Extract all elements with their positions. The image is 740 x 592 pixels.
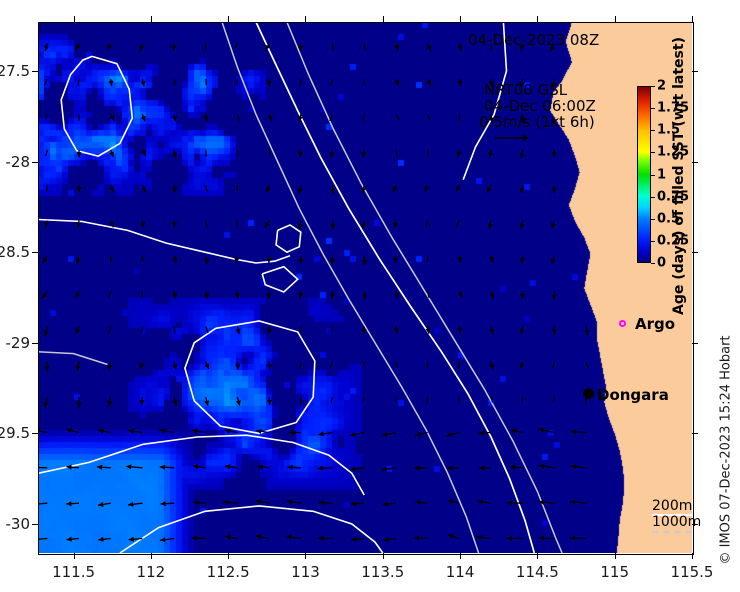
current-vector (141, 397, 142, 405)
x-tick (692, 553, 693, 559)
current-vector (459, 79, 461, 86)
current-vector (571, 466, 586, 468)
velocity-scale-label: 0.5m/s (1kt 6h) (479, 113, 595, 131)
current-vector (66, 429, 79, 432)
current-vector (46, 114, 48, 119)
current-vector (396, 327, 397, 334)
current-vector (330, 362, 332, 368)
current-vector (206, 220, 207, 227)
current-vector (46, 150, 48, 156)
x-tick-label: 112 (137, 563, 166, 581)
current-vector (571, 432, 586, 433)
current-vector (478, 433, 491, 434)
current-vector (510, 467, 523, 468)
current-vector (236, 256, 238, 263)
x-tick (460, 553, 461, 559)
current-vector (142, 150, 145, 156)
current-vector (364, 362, 365, 367)
current-vector (522, 291, 523, 299)
copyright-label: © IMOS 07-Dec-2023 15:24 Hobart (719, 335, 734, 564)
current-vector (331, 79, 332, 85)
current-vector (521, 150, 522, 159)
current-vector (552, 220, 554, 228)
current-vector (174, 150, 176, 158)
current-vector (129, 431, 143, 433)
current-vector (225, 466, 238, 468)
x-tick (460, 16, 461, 22)
current-vector (414, 538, 428, 539)
current-vector (174, 397, 176, 406)
current-vector (237, 327, 239, 335)
current-vector (286, 536, 301, 538)
colorbar-tick-label: 0 (657, 256, 666, 271)
current-vector (522, 256, 523, 264)
x-tick-label: 113.5 (361, 563, 404, 581)
current-vector (538, 429, 554, 432)
current-vector (193, 466, 206, 468)
current-vector (174, 291, 176, 299)
y-tick (692, 162, 698, 163)
current-vector (38, 539, 47, 540)
current-vector (174, 185, 175, 192)
current-vector (458, 150, 459, 157)
current-vector (174, 114, 175, 121)
current-vector (107, 44, 110, 50)
current-vector (111, 220, 114, 227)
y-axis-tick-labels: -27.5-28-28.5-29-29.5-30 (0, 0, 30, 592)
current-vector (490, 150, 491, 158)
current-vector (77, 362, 79, 371)
current-vector (142, 220, 143, 228)
colorbar-tick (651, 241, 655, 242)
current-vector (66, 503, 79, 504)
current-vector (111, 114, 115, 120)
current-vector (459, 362, 460, 369)
current-vector (206, 362, 209, 369)
current-vector (426, 220, 428, 227)
current-vector (539, 538, 555, 539)
current-vector (299, 185, 301, 194)
current-vector (111, 79, 112, 86)
x-tick-label: 112.5 (207, 563, 250, 581)
y-tick-label: -30 (6, 515, 31, 533)
x-tick-label: 114 (446, 563, 475, 581)
y-tick-label: -29 (6, 334, 31, 352)
current-vector (98, 430, 110, 432)
dongara-town-label: Dongara (597, 386, 669, 404)
y-tick (692, 71, 698, 72)
current-vector (160, 539, 174, 541)
current-vector (395, 256, 396, 263)
current-vector (570, 502, 586, 504)
x-tick-label: 113 (291, 563, 320, 581)
y-tick-label: -28.5 (0, 243, 30, 261)
current-vector (384, 539, 396, 541)
current-vector (363, 220, 364, 228)
current-vector (363, 397, 364, 402)
x-tick (228, 553, 229, 559)
current-vector (382, 433, 396, 436)
current-vector (459, 44, 461, 51)
current-vector (477, 537, 492, 539)
current-vector (381, 468, 396, 470)
current-vector (237, 114, 239, 120)
x-tick (228, 16, 229, 22)
current-vector (269, 114, 272, 121)
current-vector (223, 502, 237, 503)
current-vector (395, 220, 396, 228)
current-vector (76, 327, 79, 334)
y-tick (32, 162, 38, 163)
y-tick (692, 343, 698, 344)
current-vector (206, 185, 207, 192)
depth-1000m-line-sample (652, 531, 692, 533)
current-vector (269, 362, 270, 370)
y-tick (32, 343, 38, 344)
current-vector (428, 114, 430, 120)
current-vector (128, 503, 142, 505)
current-vector (459, 291, 462, 298)
current-vector (43, 256, 48, 263)
current-vector (383, 503, 396, 504)
current-vector (47, 185, 48, 191)
y-tick (32, 433, 38, 434)
current-vector (111, 150, 114, 157)
current-vector (267, 185, 269, 192)
current-vector (206, 397, 208, 406)
current-vector (67, 539, 79, 540)
colorbar-tick-label: 2 (657, 79, 666, 94)
current-vector (38, 430, 47, 432)
current-vector (287, 501, 301, 503)
current-vector (235, 44, 237, 50)
current-vector (511, 430, 523, 433)
current-vector (192, 430, 206, 433)
current-vector (45, 397, 48, 408)
current-vector (333, 44, 334, 51)
current-vector (448, 535, 460, 539)
x-tick-label: 115.5 (671, 563, 714, 581)
x-tick (151, 553, 152, 559)
current-vector (206, 291, 208, 299)
y-tick-label: -27.5 (0, 62, 30, 80)
y-tick (692, 433, 698, 434)
current-vector (174, 362, 176, 370)
y-tick-label: -29.5 (0, 424, 30, 442)
current-vector (539, 466, 554, 468)
current-vector (428, 44, 431, 51)
current-vector (396, 291, 397, 298)
depth-1000m-label: 1000m (652, 514, 701, 530)
current-vector (108, 362, 111, 370)
y-tick-label: -28 (6, 153, 31, 171)
x-tick (692, 16, 693, 22)
current-vector (174, 44, 175, 51)
current-vector (487, 185, 491, 192)
current-vector (160, 467, 174, 468)
current-vector (159, 430, 174, 433)
current-vector (364, 291, 365, 299)
current-vector (491, 362, 493, 370)
isobath-contour (262, 267, 298, 292)
y-tick (32, 524, 38, 525)
current-vector (42, 291, 47, 299)
current-vector (522, 397, 523, 402)
current-vector (237, 150, 238, 157)
current-vector (300, 150, 301, 157)
current-vector (553, 397, 554, 402)
current-vector (319, 502, 333, 503)
timestamp-label: 04-Dec-2023 08Z (468, 31, 599, 49)
current-vector (237, 362, 238, 370)
x-tick (74, 16, 75, 22)
current-vector (142, 114, 145, 121)
argo-legend-label: Argo (635, 315, 675, 333)
colorbar-tick (651, 263, 655, 264)
isobath-contour (38, 435, 364, 495)
current-vector (236, 220, 237, 227)
current-vector (333, 220, 334, 229)
current-vector (332, 256, 333, 265)
x-tick (383, 16, 384, 22)
x-tick (537, 553, 538, 559)
current-vector (396, 362, 397, 368)
current-vector (174, 79, 175, 85)
current-vector (300, 362, 301, 369)
x-tick (537, 16, 538, 22)
current-vector (456, 185, 459, 191)
current-vector (351, 503, 365, 504)
current-vector (520, 362, 522, 369)
colorbar (637, 86, 651, 263)
current-vector (109, 397, 111, 406)
colorbar-tick-label: 1 (657, 167, 666, 182)
current-vector (206, 327, 208, 334)
current-vector (491, 327, 493, 335)
current-vector (142, 185, 145, 192)
x-tick (74, 553, 75, 559)
current-vector (269, 150, 270, 157)
current-vector (300, 44, 301, 51)
current-vector (427, 362, 428, 369)
colorbar-tick (651, 175, 655, 176)
current-vector (428, 79, 431, 86)
current-vector (45, 44, 47, 51)
y-tick (32, 71, 38, 72)
current-vector (265, 220, 269, 227)
y-tick (32, 252, 38, 253)
current-vector (489, 220, 491, 228)
current-vector (521, 220, 523, 228)
x-tick (305, 16, 306, 22)
current-vector (448, 501, 459, 504)
argo-marker-icon (619, 320, 626, 327)
current-vector (317, 468, 332, 469)
current-vector (256, 536, 269, 539)
isobath-contour (120, 506, 383, 553)
current-vector (425, 185, 427, 192)
current-vector (363, 114, 364, 120)
current-vector (331, 397, 332, 402)
current-vector (97, 467, 111, 468)
current-vector (364, 44, 365, 51)
isobath-contour (61, 56, 132, 156)
current-vector (45, 79, 48, 85)
current-vector (206, 114, 207, 121)
current-vector (459, 256, 460, 263)
current-vector (459, 327, 460, 334)
colorbar-tick (651, 152, 655, 153)
x-tick (305, 553, 306, 559)
current-vector (396, 114, 399, 120)
current-vector (415, 502, 427, 503)
current-vector (491, 291, 494, 299)
current-vector (98, 503, 111, 505)
current-vector (142, 291, 143, 297)
x-tick-label: 111.5 (52, 563, 95, 581)
current-vector (331, 327, 332, 333)
current-vector (258, 466, 269, 467)
current-vector (38, 467, 47, 468)
current-vector (539, 502, 555, 503)
current-vector (586, 362, 588, 369)
x-tick-label: 114.5 (516, 563, 559, 581)
current-vector (38, 503, 47, 504)
current-vector (415, 433, 428, 436)
current-vector (193, 502, 206, 503)
colorbar-tick (651, 197, 655, 198)
depth-200m-label: 200m (652, 498, 692, 514)
current-vector (446, 433, 459, 436)
current-vector (78, 220, 79, 228)
current-vector (299, 220, 301, 229)
current-vector (394, 185, 396, 192)
current-vector (554, 291, 555, 300)
current-vector (161, 503, 175, 504)
current-vector (45, 327, 47, 337)
current-vector (76, 256, 79, 264)
current-vector (78, 79, 79, 85)
current-vector (552, 256, 555, 264)
current-vector (126, 466, 142, 467)
isobath-contour (38, 220, 290, 264)
isobath-contour (185, 321, 315, 433)
current-vector (350, 433, 365, 436)
current-vector (396, 150, 397, 157)
colorbar-tick (651, 130, 655, 131)
current-vector (300, 79, 301, 86)
current-vector (318, 538, 332, 539)
current-vector (350, 468, 364, 470)
current-vector (191, 538, 205, 539)
current-vector (521, 327, 523, 335)
current-vector (140, 44, 142, 51)
current-vector (109, 327, 111, 333)
y-tick (692, 252, 698, 253)
x-tick (383, 553, 384, 559)
colorbar-tick (651, 108, 655, 109)
current-vector (363, 150, 364, 158)
current-vector (225, 536, 237, 538)
colorbar-title: Age (days) of filled SST (wrt latest) (671, 37, 687, 315)
reference-arrow-icon (495, 133, 529, 143)
current-vector (256, 501, 270, 503)
current-vector (300, 291, 301, 298)
current-vector (351, 539, 364, 540)
current-vector (237, 397, 239, 406)
colorbar-gradient (637, 86, 651, 263)
x-tick (151, 16, 152, 22)
current-vector (521, 185, 522, 193)
current-vector (141, 327, 143, 334)
current-vector (318, 433, 332, 435)
isobath-contour (38, 352, 108, 365)
isobath-contour (222, 22, 479, 553)
current-vector (456, 220, 459, 226)
current-vector (109, 291, 111, 297)
current-vector (76, 44, 79, 50)
colorbar-tick (651, 86, 655, 87)
current-vector (206, 256, 208, 264)
current-vector (76, 291, 79, 298)
current-vector (288, 467, 301, 468)
current-vector (553, 362, 555, 368)
current-vector (269, 397, 270, 405)
current-vector (225, 430, 238, 432)
current-vector (396, 79, 399, 86)
current-vector (111, 185, 114, 192)
colorbar-tick (651, 219, 655, 220)
current-vector (330, 114, 333, 120)
current-vector (586, 327, 587, 336)
x-tick-label: 115 (600, 563, 629, 581)
current-vector (364, 256, 365, 265)
current-vector (45, 220, 47, 227)
x-tick (615, 553, 616, 559)
current-vector (301, 327, 302, 333)
current-vector (491, 256, 493, 263)
current-vector (477, 501, 491, 503)
current-vector (174, 256, 176, 264)
x-tick (615, 16, 616, 22)
current-vector (98, 539, 110, 540)
current-vector (206, 79, 207, 85)
current-vector (140, 362, 142, 369)
dongara-marker-icon (583, 388, 594, 399)
isobath-contour (276, 225, 301, 252)
current-vector (331, 150, 332, 158)
current-vector (396, 44, 398, 51)
current-vector (174, 327, 175, 334)
current-vector (570, 538, 586, 539)
current-vector (142, 79, 144, 86)
current-vector (174, 220, 175, 227)
